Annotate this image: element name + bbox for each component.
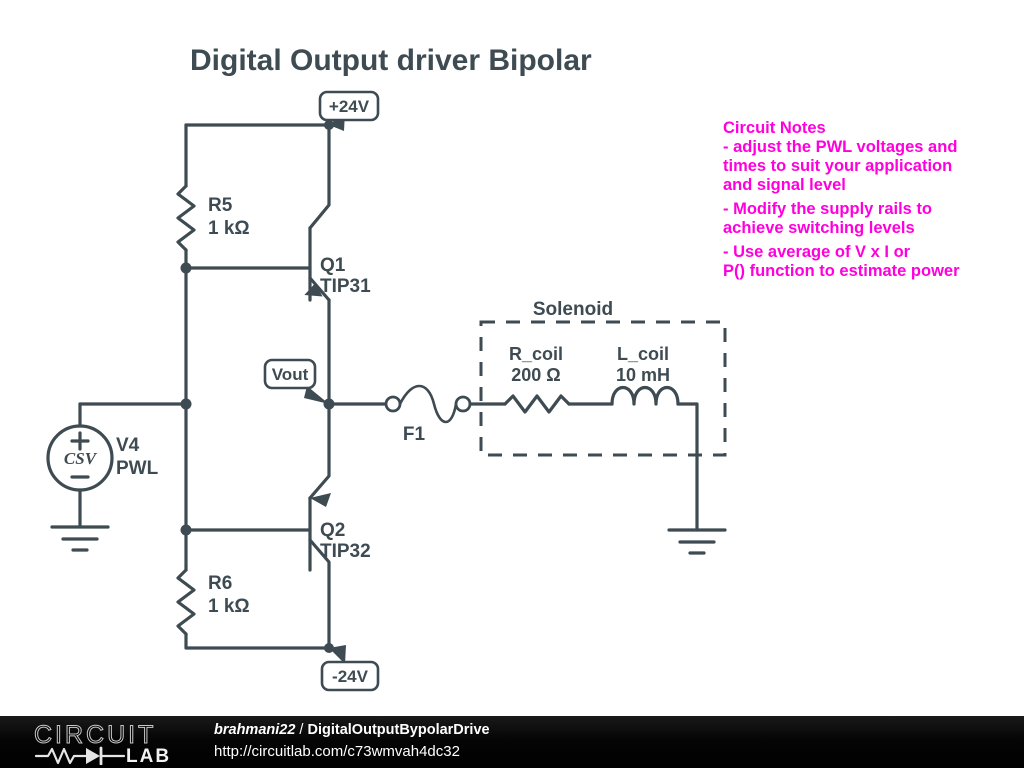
- r5-ref-label: R5: [208, 195, 233, 216]
- inductor-lcoil-body: [612, 388, 678, 405]
- rcoil-value-label: 200 Ω: [511, 365, 560, 385]
- footer-project-name: DigitalOutputBypolarDrive: [308, 722, 490, 738]
- footer-bar: CIRCUIT LAB brahmani22 / DigitalOutputBy…: [0, 716, 1024, 768]
- footer-url: http://circuitlab.com/c73wmvah4dc32: [214, 741, 490, 763]
- solenoid-label: Solenoid: [533, 299, 613, 320]
- f1-ref-label: F1: [403, 424, 426, 445]
- q2-emitter-lead: [310, 404, 329, 498]
- rail-flag-negative-label: -24V: [332, 667, 369, 686]
- f1-wavy-element: [400, 386, 456, 422]
- page-title: Digital Output driver Bipolar: [190, 44, 592, 77]
- r6-value-label: 1 kΩ: [208, 596, 250, 617]
- r6-ref-label: R6: [208, 573, 232, 594]
- footer-credits: brahmani22 / DigitalOutputBypolarDrive h…: [214, 720, 490, 763]
- footer-separator: /: [295, 722, 307, 738]
- node-flag-vout-label: Vout: [272, 365, 309, 384]
- v4-type-label: PWL: [116, 458, 159, 479]
- circuitlab-logo: CIRCUIT LAB: [34, 719, 194, 765]
- resistor-r6-body: [178, 570, 194, 634]
- rail-flag-positive-label: +24V: [329, 97, 370, 116]
- notes-heading: Circuit Notes: [723, 119, 826, 137]
- lcoil-ref-label: L_coil: [617, 344, 669, 364]
- schematic-canvas: .wire{stroke:#3e4b52;stroke-width:3.2;fi…: [0, 0, 1024, 768]
- notes-line-3: - Modify the supply rails to: [723, 200, 932, 218]
- notes-line-6: P() function to estimate power: [723, 262, 960, 280]
- notes-line-2: and signal level: [723, 176, 846, 194]
- wire-r6-bottom-to-rail: [186, 634, 329, 648]
- lcoil-value-label: 10 mH: [616, 365, 670, 385]
- solenoid-boundary: [481, 322, 725, 455]
- f1-terminal-left: [386, 397, 400, 411]
- notes-line-0: - adjust the PWL voltages and: [723, 138, 957, 156]
- logo-lab-text: LAB: [126, 747, 171, 766]
- rcoil-ref-label: R_coil: [509, 344, 563, 364]
- notes-line-1: times to suit your application: [723, 157, 952, 175]
- q1-part-label: TIP31: [320, 276, 371, 297]
- resistor-r5-body: [178, 186, 194, 250]
- wire-q1-collector: [310, 125, 329, 228]
- logo-resistor-diode-icon: [34, 745, 126, 765]
- notes-line-5: - Use average of V x I or: [723, 243, 911, 261]
- v4-symbol-text: CSV: [64, 449, 98, 468]
- notes-line-4: achieve switching levels: [723, 219, 915, 237]
- v4-ref-label: V4: [116, 435, 140, 456]
- q1-ref-label: Q1: [320, 255, 346, 276]
- q2-ref-label: Q2: [320, 520, 345, 541]
- circuit-schematic: .wire{stroke:#3e4b52;stroke-width:3.2;fi…: [0, 0, 1024, 768]
- v4-plus-sign: [72, 433, 88, 449]
- r5-value-label: 1 kΩ: [208, 218, 250, 239]
- wire-lcoil-to-ground: [678, 404, 697, 530]
- q2-part-label: TIP32: [320, 541, 371, 562]
- footer-username: brahmani22: [214, 722, 295, 738]
- f1-terminal-right: [456, 397, 470, 411]
- resistor-rcoil-body: [505, 396, 569, 412]
- node-dot-q2-base: [181, 525, 192, 536]
